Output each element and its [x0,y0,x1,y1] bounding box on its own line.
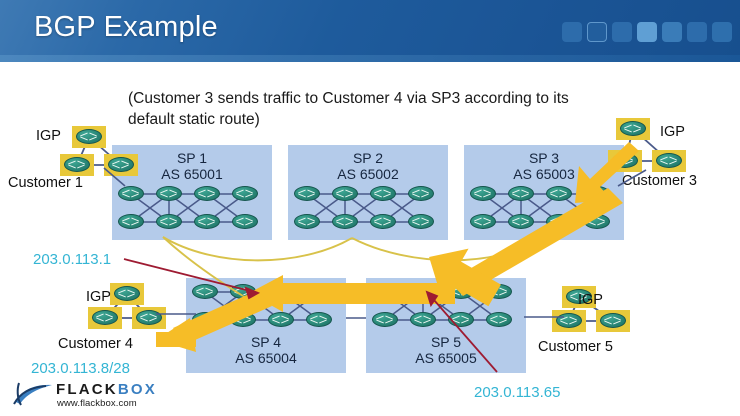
logo-url: www.flackbox.com [57,398,137,409]
router-glyph [136,310,162,325]
router-sp5-2 [410,284,436,299]
provider-cloud-sp5: SP 5AS 65005 [366,278,526,373]
igp-label-customer1: IGP [36,128,61,144]
router-sp5-3 [448,284,474,299]
customer-router-customer3-right [652,150,686,172]
router-glyph [600,313,626,328]
customer-router-customer3-left [608,150,642,172]
header-square-2 [587,22,607,42]
router-sp1-4 [232,186,258,201]
router-sp2-4 [408,186,434,201]
logo-box: BOX [118,381,157,398]
router-sp3-4 [584,186,610,201]
router-sp1-6 [156,214,182,229]
router-sp2-7 [370,214,396,229]
router-glyph [64,157,90,172]
provider-cloud-sp2: SP 2AS 65002 [288,145,448,240]
router-sp5-6 [410,312,436,327]
header-square-5 [662,22,682,42]
header-square-3 [612,22,632,42]
logo-flack: FLACK [56,381,118,398]
router-sp2-1 [294,186,320,201]
router-glyph [108,157,134,172]
header-square-7 [712,22,732,42]
header-square-4 [637,22,657,42]
router-sp3-7 [546,214,572,229]
router-glyph [114,286,140,301]
customer-router-customer5-left [552,310,586,332]
router-sp5-7 [448,312,474,327]
customer-router-customer5-right [596,310,630,332]
router-sp5-4 [486,284,512,299]
igp-label-customer5: IGP [578,292,603,308]
router-sp1-1 [118,186,144,201]
router-sp5-8 [486,312,512,327]
router-sp4-5 [192,312,218,327]
router-sp1-5 [118,214,144,229]
router-sp1-2 [156,186,182,201]
flackbox-mark-icon [12,380,54,408]
router-glyph [656,153,682,168]
router-glyph [612,153,638,168]
router-sp3-8 [584,214,610,229]
router-sp4-2 [230,284,256,299]
provider-cloud-sp3: SP 3AS 65003 [464,145,624,240]
router-sp1-7 [194,214,220,229]
customer-label-customer5: Customer 5 [538,339,613,355]
router-sp2-8 [408,214,434,229]
ip-annotation-2: 203.0.113.8/28 [31,360,130,377]
customer-label-customer4: Customer 4 [58,336,133,352]
peering-sp1-sp2 [163,237,352,260]
router-sp2-5 [294,214,320,229]
router-sp4-1 [192,284,218,299]
router-sp1-8 [232,214,258,229]
customer-router-customer4-left [88,307,122,329]
router-glyph [620,121,646,136]
ip-annotation-3: 203.0.113.65 [474,384,560,401]
router-glyph [556,313,582,328]
router-sp4-4 [306,284,332,299]
router-sp3-1 [470,186,496,201]
router-sp3-2 [508,186,534,201]
customer-label-customer3: Customer 3 [622,173,697,189]
router-sp3-3 [546,186,572,201]
ip-annotation-1: 203.0.113.1 [33,251,111,268]
router-sp1-3 [194,186,220,201]
customer-label-customer1: Customer 1 [8,175,83,191]
router-sp5-5 [372,312,398,327]
provider-cloud-sp4: SP 4AS 65004 [186,278,346,373]
customer-router-customer1-left [60,154,94,176]
slide-root: BGP Example (Customer 3 sends traffic to… [0,0,740,416]
header-square-6 [687,22,707,42]
router-sp2-2 [332,186,358,201]
router-glyph [92,310,118,325]
router-glyph [76,129,102,144]
customer-router-customer4-top [110,283,144,305]
customer-router-customer1-right [104,154,138,176]
router-sp2-6 [332,214,358,229]
router-sp3-5 [470,214,496,229]
customer-router-customer4-right [132,307,166,329]
logo-wordmark: FLACKBOX [56,381,157,398]
router-sp4-6 [230,312,256,327]
router-sp4-8 [306,312,332,327]
router-sp4-7 [268,312,294,327]
slide-caption: (Customer 3 sends traffic to Customer 4 … [128,88,598,130]
igp-label-customer3: IGP [660,124,685,140]
header-decoration-squares [562,22,732,42]
slide-header: BGP Example [0,0,740,62]
router-sp3-6 [508,214,534,229]
igp-label-customer4: IGP [86,289,111,305]
router-sp4-3 [268,284,294,299]
page-title: BGP Example [34,11,218,44]
customer-router-customer1-top [72,126,106,148]
router-sp5-1 [372,284,398,299]
router-sp2-3 [370,186,396,201]
header-square-1 [562,22,582,42]
flackbox-logo: FLACKBOX www.flackbox.com [12,380,148,412]
customer-router-customer3-top [616,118,650,140]
